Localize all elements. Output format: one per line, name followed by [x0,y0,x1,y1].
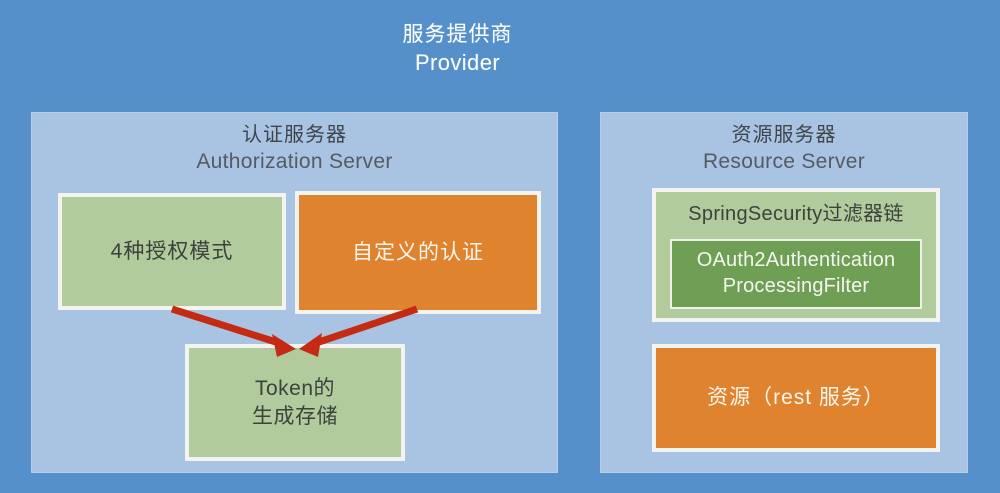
panel-authorization-server-header: 认证服务器 Authorization Server [31,122,558,175]
box-oauth2-filter-line2: ProcessingFilter [723,275,870,297]
panel-resource-server-title-cn: 资源服务器 [600,122,968,148]
box-oauth2-authentication-processing-filter: OAuth2Authentication ProcessingFilter [670,239,922,309]
provider-title-cn: 服务提供商 [0,22,915,49]
box-custom-auth-label: 自定义的认证 [352,239,484,267]
box-resource-rest-service: 资源（rest 服务） [652,344,940,452]
box-token-store-label: Token的 生成存储 [252,375,338,430]
box-grant-modes: 4种授权模式 [58,193,286,310]
panel-resource-server-header: 资源服务器 Resource Server [600,122,968,175]
box-token-store-line1: Token的 [255,377,335,400]
panel-resource-server-title-en: Resource Server [600,148,968,175]
box-resource-rest-service-label: 资源（rest 服务） [707,384,885,412]
box-oauth2-filter-label: OAuth2Authentication ProcessingFilter [697,248,896,299]
box-token-store: Token的 生成存储 [185,344,405,461]
box-custom-auth: 自定义的认证 [295,191,541,314]
panel-authorization-server-title-cn: 认证服务器 [31,122,558,148]
box-grant-modes-label: 4种授权模式 [111,238,234,266]
provider-title-en: Provider [0,49,915,77]
diagram-canvas: 服务提供商 Provider 认证服务器 Authorization Serve… [0,0,1000,493]
box-token-store-line2: 生成存储 [252,405,338,428]
provider-title: 服务提供商 Provider [0,22,915,77]
box-springsecurity-filter-chain: SpringSecurity过滤器链 OAuth2Authentication … [652,188,940,322]
panel-authorization-server-title-en: Authorization Server [31,148,558,175]
box-springsecurity-filter-chain-label: SpringSecurity过滤器链 [656,201,936,227]
box-oauth2-filter-line1: OAuth2Authentication [697,249,896,271]
